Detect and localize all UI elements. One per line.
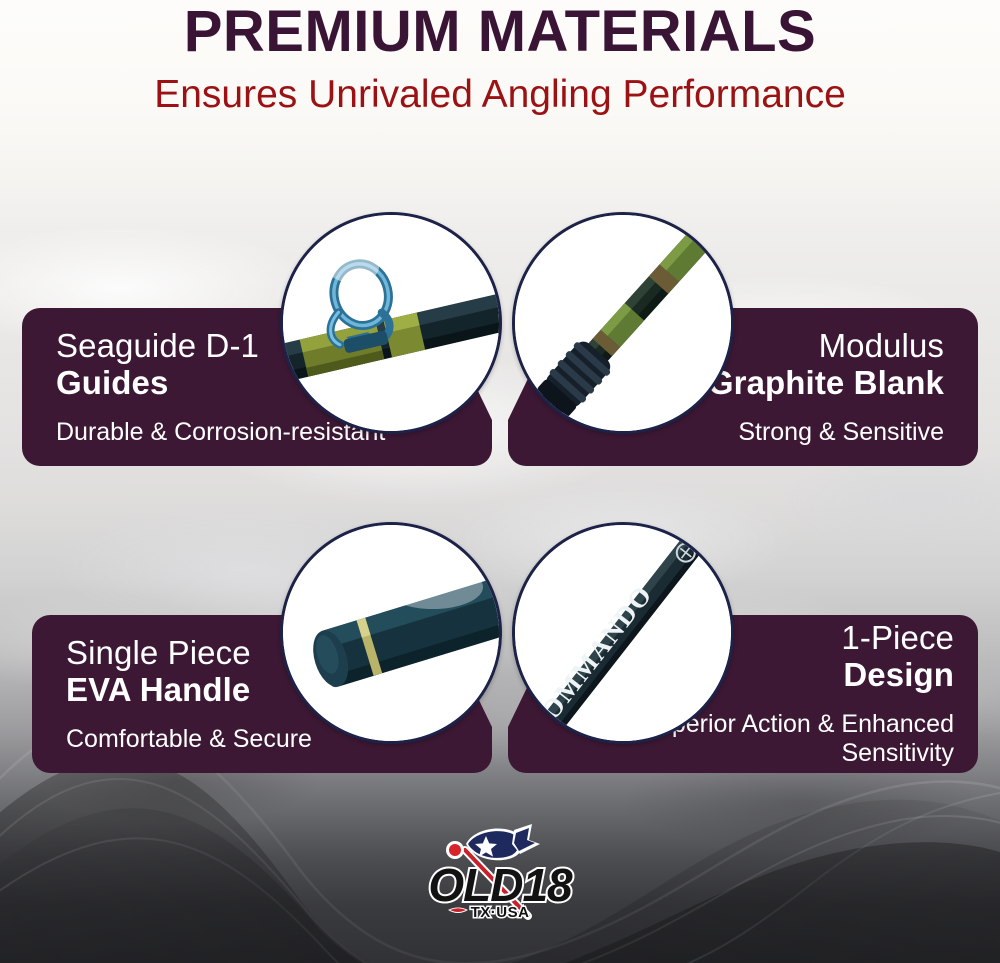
brand-logo[interactable]: OLD18 TX·USA: [420, 824, 580, 928]
logo-tagline: TX·USA: [420, 904, 580, 921]
background-wave-ribbons: [0, 0, 1000, 963]
graphite-blank-illustration: [515, 215, 731, 431]
feature-image-one-piece-blank: COMMANDO: [512, 522, 734, 744]
feature-image-graphite-blank: [512, 212, 734, 434]
infographic-page: PREMIUM MATERIALS Ensures Unrivaled Angl…: [0, 0, 1000, 963]
page-title: PREMIUM MATERIALS: [0, 2, 1000, 62]
logo-wordmark: OLD18: [420, 862, 580, 908]
feature-image-rod-guide: [280, 212, 502, 434]
page-subtitle: Ensures Unrivaled Angling Performance: [0, 74, 1000, 117]
one-piece-blank-illustration: COMMANDO: [515, 525, 731, 741]
rod-guide-illustration: [283, 215, 499, 431]
eva-handle-illustration: [283, 525, 499, 741]
feature-image-eva-handle: [280, 522, 502, 744]
